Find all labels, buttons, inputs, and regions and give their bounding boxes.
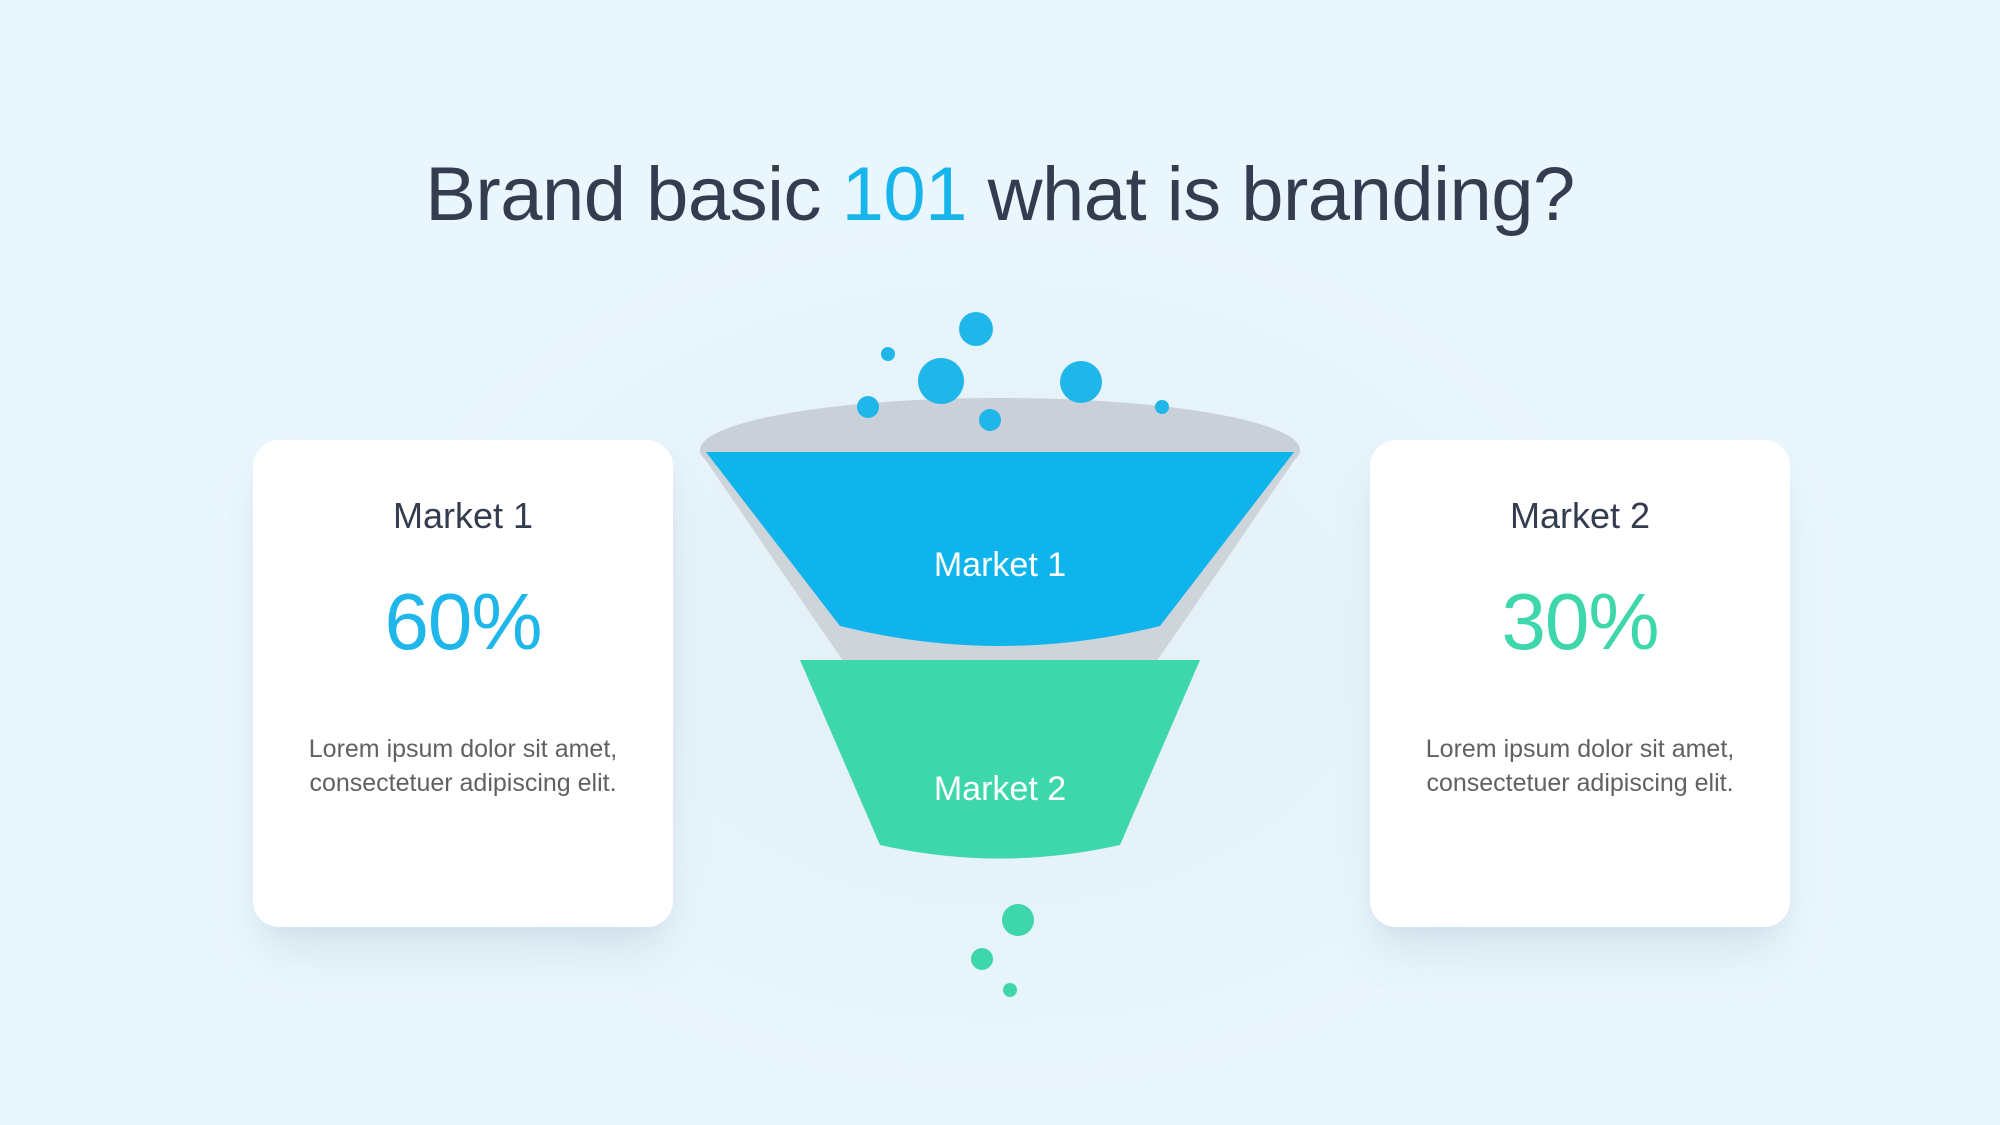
bubble-green-2 bbox=[971, 948, 993, 970]
bubble-blue-4 bbox=[881, 347, 895, 361]
bubble-blue-2 bbox=[918, 358, 964, 404]
bubble-blue-7 bbox=[1155, 400, 1169, 414]
funnel-slice-market-2 bbox=[800, 660, 1200, 859]
bubble-blue-3 bbox=[1060, 361, 1102, 403]
title-part-before: Brand basic bbox=[425, 152, 841, 237]
bubble-green-3 bbox=[1003, 983, 1017, 997]
card-right-title: Market 2 bbox=[1404, 496, 1756, 536]
slide-canvas: Brand basic 101 what is branding? Marke bbox=[0, 0, 2000, 1125]
funnel-label-market-1: Market 1 bbox=[934, 546, 1066, 584]
card-right-description: Lorem ipsum dolor sit amet, consectetuer… bbox=[1404, 732, 1756, 800]
title-accent-101: 101 bbox=[842, 152, 967, 237]
bubble-blue-1 bbox=[959, 312, 993, 346]
market-card-left[interactable]: Market 1 60% Lorem ipsum dolor sit amet,… bbox=[253, 440, 673, 927]
card-left-title: Market 1 bbox=[287, 496, 639, 536]
market-card-right[interactable]: Market 2 30% Lorem ipsum dolor sit amet,… bbox=[1370, 440, 1790, 927]
bubble-blue-6 bbox=[979, 409, 1001, 431]
bubble-green-1 bbox=[1002, 904, 1034, 936]
funnel-slice-market-1 bbox=[706, 452, 1294, 646]
funnel-top-rim bbox=[700, 398, 1300, 502]
bubble-blue-5 bbox=[857, 396, 879, 418]
card-right-value: 30% bbox=[1404, 580, 1756, 664]
title-part-after: what is branding? bbox=[967, 152, 1575, 237]
card-left-value: 60% bbox=[287, 580, 639, 664]
funnel-body-gray bbox=[700, 452, 1300, 818]
funnel-label-market-2: Market 2 bbox=[934, 770, 1066, 808]
card-left-description: Lorem ipsum dolor sit amet, consectetuer… bbox=[287, 732, 639, 800]
page-title: Brand basic 101 what is branding? bbox=[0, 155, 2000, 236]
